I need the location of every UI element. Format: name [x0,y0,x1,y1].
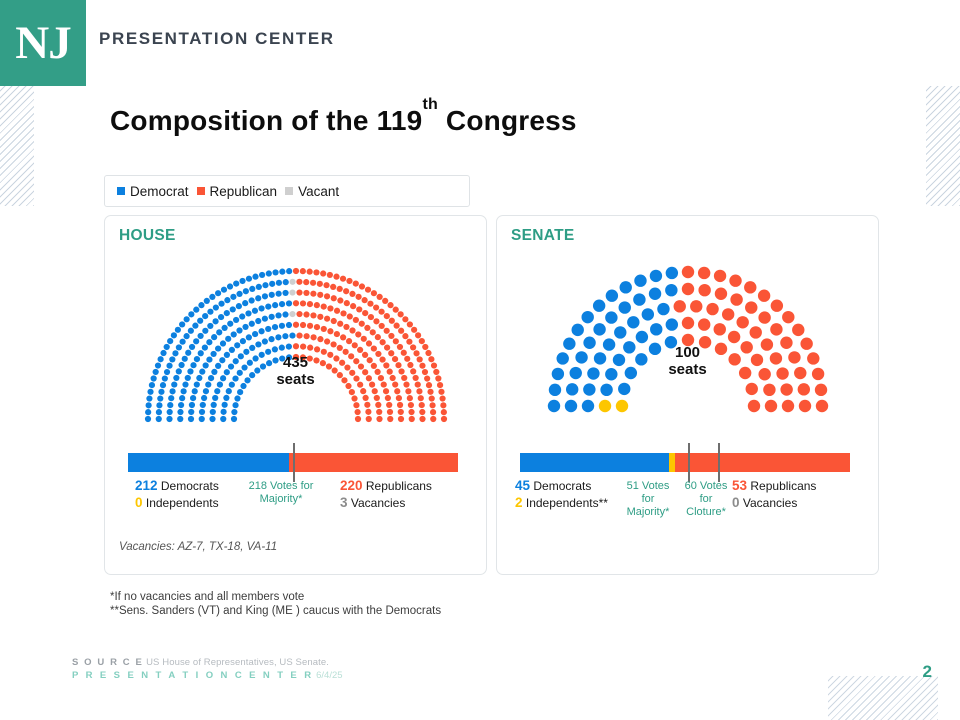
seat-dot [167,338,173,344]
seat-dot [406,339,412,345]
seat-dot [593,323,605,335]
seat-dot [745,301,757,313]
seat-dot [157,395,163,401]
seat-dot [282,290,288,296]
seat-dot [764,400,776,412]
seat-dot [408,409,414,415]
seat-dot [410,344,416,350]
stat-number: 212 [135,478,158,493]
house-seats-word: seats [276,371,314,388]
seat-dot [309,280,315,286]
seat-dot [317,336,323,342]
bar-segment-republicans [675,453,850,472]
stat-vacancies: 0 Vacancies [732,495,797,511]
seat-dot [407,402,413,408]
seat-dot [313,324,319,330]
seat-dot [275,291,281,297]
seat-dot [376,294,382,300]
seat-dot [736,316,748,328]
seat-dot [251,308,257,314]
seat-dot [236,327,242,333]
stat-label: Independents** [526,496,608,510]
seat-dot [209,409,215,415]
brand-logo: NJ [0,0,86,86]
seat-dot [439,395,445,401]
seat-dot [225,388,231,394]
seat-dot [361,297,367,303]
seat-dot [275,280,281,286]
seat-dot [396,344,402,350]
footnote: *If no vacancies and all members vote [110,590,441,604]
seat-dot [214,290,220,296]
seat-dot [371,388,377,394]
seat-dot [333,331,339,337]
seat-dot [230,416,236,422]
seat-dot [180,388,186,394]
seat-dot [782,311,794,323]
seat-dot [781,400,793,412]
seat-dot [382,388,388,394]
seat-dot [168,395,174,401]
seat-dot [370,290,376,296]
seat-dot [548,384,560,396]
seat-dot [386,402,392,408]
seat-dot [220,287,226,293]
source-block: S O U R C E US House of Representatives,… [72,656,343,682]
seat-dot [619,281,631,293]
seat-dot [581,311,593,323]
seat-dot [367,301,373,307]
stat-democrats: 45 Democrats [515,478,591,494]
bar-segment-republicans [289,453,458,472]
seat-dot [330,295,336,301]
bar-threshold-marker [688,443,690,482]
seat-dot [408,416,414,422]
seat-dot [310,312,316,318]
seat-dot [258,328,264,334]
stat-label: Democrats [533,479,591,493]
seat-dot [440,409,446,415]
seat-dot [268,336,274,342]
seat-dot [202,328,208,334]
source-date: 6/4/25 [316,670,342,681]
stat-label: Vacancies [743,496,797,510]
seat-dot [179,395,185,401]
seat-dot [364,287,370,293]
seat-dot [232,402,238,408]
seat-dot [282,311,288,317]
seat-dot [627,316,639,328]
seat-dot [324,316,330,322]
seat-dot [758,311,770,323]
seat-dot [269,281,275,287]
seat-dot [166,416,172,422]
seat-dot [348,389,354,395]
seat-dot [357,347,363,353]
seat-dot [427,389,433,395]
seat-dot [202,313,208,319]
seat-dot [289,311,295,317]
legend-label: Republican [210,184,278,199]
seat-dot [681,317,693,329]
seat-dot [358,283,364,289]
seat-dot [278,323,284,329]
seat-dot [373,304,379,310]
seat-dot [279,269,285,275]
stat-number: 0 [135,495,143,510]
seat-dot [358,321,364,327]
seat-dot [714,288,726,300]
seat-dot [392,338,398,344]
seat-dot [175,344,181,350]
seat-dot [373,395,379,401]
house-panel: HOUSE 435 seats 212 Democrats0 Independe… [104,215,487,575]
bar-segment-independents [669,453,676,472]
page-title-superscript: th [422,96,438,113]
seat-dot [388,333,394,339]
legend-label: Democrat [130,184,189,199]
seat-dot [299,268,305,274]
seat-dot [217,314,223,320]
stat-label: Republicans [750,479,816,493]
seat-dot [191,388,197,394]
seat-dot [233,317,239,323]
seat-dot [378,323,384,329]
seat-dot [364,402,370,408]
seat-dot [419,409,425,415]
threshold-line: Majority* [627,506,670,518]
seat-dot [292,300,298,306]
seat-dot [429,409,435,415]
seat-dot [234,342,240,348]
seat-dot [379,339,385,345]
seat-dot [206,339,212,345]
seat-dot [201,395,207,401]
seat-dot [598,400,610,412]
seat-dot [249,345,255,351]
seat-dot [299,322,305,328]
seat-dot [317,292,323,298]
legend-item-democrat: Democrat [117,184,189,199]
senate-arc-svg [528,254,848,424]
seat-dot [422,344,428,350]
seat-dot [323,293,329,299]
seat-dot [306,301,312,307]
seat-dot [635,331,647,343]
seat-dot [418,338,424,344]
seat-dot [255,341,261,347]
seat-dot [411,327,417,333]
legend-label: Vacant [298,184,339,199]
seat-dot [797,383,809,395]
seat-dot [727,331,739,343]
seat-dot [145,409,151,415]
seat-dot [245,276,251,282]
seat-dot [252,331,258,337]
seat-dot [392,307,398,313]
seat-dot [374,334,380,340]
seat-dot [230,331,236,337]
seat-dot [239,313,245,319]
seat-dot [225,336,231,342]
seat-dot [144,416,150,422]
seat-dot [618,301,630,313]
bar-segment-democrats [520,453,669,472]
seat-dot [641,308,653,320]
seat-dot [201,345,207,351]
stat-vacancies: 3 Vacancies [340,495,405,511]
seat-dot [258,305,264,311]
seat-dot [282,279,288,285]
seat-dot [387,416,393,422]
seat-dot [330,284,336,290]
stat-republicans: 53 Republicans [732,478,816,494]
seat-dot [193,307,199,313]
seat-dot [648,288,660,300]
seat-dot [261,316,267,322]
seat-dot [397,416,403,422]
seat-dot [650,323,662,335]
seat-dot [210,402,216,408]
seat-dot [418,402,424,408]
seat-dot [393,323,399,329]
seat-dot [395,395,401,401]
seat-dot [365,340,371,346]
seat-dot [386,409,392,415]
seat-dot [209,416,215,422]
seat-dot [605,290,617,302]
brand-name: PRESENTATION CENTER [99,29,335,49]
seat-dot [417,395,423,401]
seat-dot [330,318,336,324]
seat-dot [224,297,230,303]
seat-dot [327,305,333,311]
seat-dot [353,402,359,408]
seat-dot [383,328,389,334]
seat-dot [193,338,199,344]
seat-dot [352,317,358,323]
house-seats-number: 435 [283,354,308,371]
senate-panel-title: SENATE [511,227,575,245]
seat-dot [310,334,316,340]
page-number: 2 [923,662,932,682]
seat-dot [249,286,255,292]
house-seats-total: 435 seats [105,354,486,388]
seat-dot [271,324,277,330]
stat-independents: 0 Independents [135,495,219,511]
seat-dot [814,384,826,396]
seat-dot [239,278,245,284]
seat-dot [350,303,356,309]
seat-dot [245,334,251,340]
seat-dot [202,388,208,394]
seat-dot [303,333,309,339]
decorative-hatch-left [0,86,34,206]
seat-dot [323,282,329,288]
seat-dot [317,314,323,320]
seat-dot [405,388,411,394]
seat-dot [324,338,330,344]
seat-dot [265,326,271,332]
legend-swatch-icon [285,187,293,195]
seat-dot [155,416,161,422]
seat-dot [198,409,204,415]
seat-dot [272,302,278,308]
seat-dot [345,338,351,344]
seat-dot [242,288,248,294]
seat-dot [698,284,710,296]
seat-dot [306,269,312,275]
seat-dot [780,383,792,395]
seat-dot [212,318,218,324]
house-seat-chart [105,254,486,450]
seat-dot [747,400,759,412]
threshold-line: Cloture* [686,506,726,518]
seat-dot [278,301,284,307]
seat-dot [313,302,319,308]
seat-dot [198,302,204,308]
seat-dot [402,316,408,322]
seat-dot [268,314,274,320]
seat-dot [212,395,218,401]
seat-dot [219,340,225,346]
house-panel-title: HOUSE [119,227,176,245]
seat-dot [248,321,254,327]
seat-dot [369,329,375,335]
seat-dot [713,270,725,282]
seat-dot [673,300,685,312]
seat-dot [261,293,267,299]
footnotes: *If no vacancies and all members vote**S… [110,590,441,618]
header-divider [86,85,960,86]
seat-dot [376,409,382,415]
seat-dot [415,332,421,338]
seat-dot [187,416,193,422]
seat-dot [289,279,295,285]
seat-dot [798,400,810,412]
seat-dot [402,333,408,339]
seat-dot [429,402,435,408]
source-value: US House of Representatives, US Senate. [146,657,329,668]
seat-dot [268,292,274,298]
seat-dot [749,326,761,338]
seat-dot [296,279,302,285]
seat-dot [203,298,209,304]
seat-dot [146,395,152,401]
stat-republicans: 220 Republicans [340,478,432,494]
seat-dot [220,416,226,422]
seat-dot [326,272,332,278]
house-vacancy-note: Vacancies: AZ-7, TX-18, VA-11 [119,541,277,553]
seat-dot [187,328,193,334]
seat-dot [362,395,368,401]
seat-dot [155,409,161,415]
seat-dot [382,298,388,304]
seat-dot [375,402,381,408]
seat-dot [292,268,298,274]
seat-dot [373,318,379,324]
threshold-label: 60 VotesforCloture* [677,480,735,519]
seat-dot [310,291,316,297]
seat-dot [212,304,218,310]
seat-dot [360,388,366,394]
seat-dot [145,402,151,408]
seat-dot [209,294,215,300]
seat-dot [242,324,248,330]
house-stats: 212 Democrats0 Independents220 Republica… [105,478,486,548]
legend-item-vacant: Vacant [285,184,339,199]
seat-dot [744,281,756,293]
seat-dot [745,383,757,395]
seat-dot [242,300,248,306]
senate-seats-total: 100 seats [497,344,878,378]
seat-dot [565,383,577,395]
seat-dot [183,333,189,339]
seat-dot [227,321,233,327]
seat-dot [218,301,224,307]
seat-dot [387,302,393,308]
seat-dot [174,327,180,333]
seat-dot [197,333,203,339]
seat-dot [649,270,661,282]
page-title-main: Composition of the 119 [110,105,422,136]
seat-dot [634,275,646,287]
seat-dot [352,281,358,287]
seat-dot [605,311,617,323]
seat-dot [583,383,595,395]
legend-swatch-icon [117,187,125,195]
seat-dot [177,416,183,422]
seat-dot [214,388,220,394]
stat-label: Republicans [366,479,432,493]
seat-dot [763,384,775,396]
seat-dot [346,278,352,284]
seat-dot [296,332,302,338]
seat-dot [633,293,645,305]
seat-dot [370,345,376,351]
seat-dot [188,311,194,317]
seat-dot [697,267,709,279]
seat-dot [221,402,227,408]
seat-dot [285,300,291,306]
seat-dot [289,289,295,295]
seat-dot [327,328,333,334]
seat-dot [364,325,370,331]
seat-dot [223,395,229,401]
stat-label: Vacancies [351,496,405,510]
seat-dot [339,276,345,282]
seat-dot [296,289,302,295]
seat-dot [618,383,630,395]
house-composition-bar [128,453,458,472]
page-title: Composition of the 119th Congress [110,105,577,137]
seat-dot [354,416,360,422]
seat-dot [192,323,198,329]
stat-democrats: 212 Democrats [135,478,219,494]
seat-dot [729,275,741,287]
threshold-line: 51 Votes [627,480,670,492]
seat-dot [300,344,306,350]
decorative-hatch-bottom-right [828,676,938,720]
seat-dot [320,304,326,310]
seat-dot [220,409,226,415]
seat-dot [239,338,245,344]
bar-segment-democrats [128,453,289,472]
seat-dot [383,313,389,319]
seat-dot [245,310,251,316]
seat-dot [571,324,583,336]
threshold-line: Majority* [260,493,303,505]
